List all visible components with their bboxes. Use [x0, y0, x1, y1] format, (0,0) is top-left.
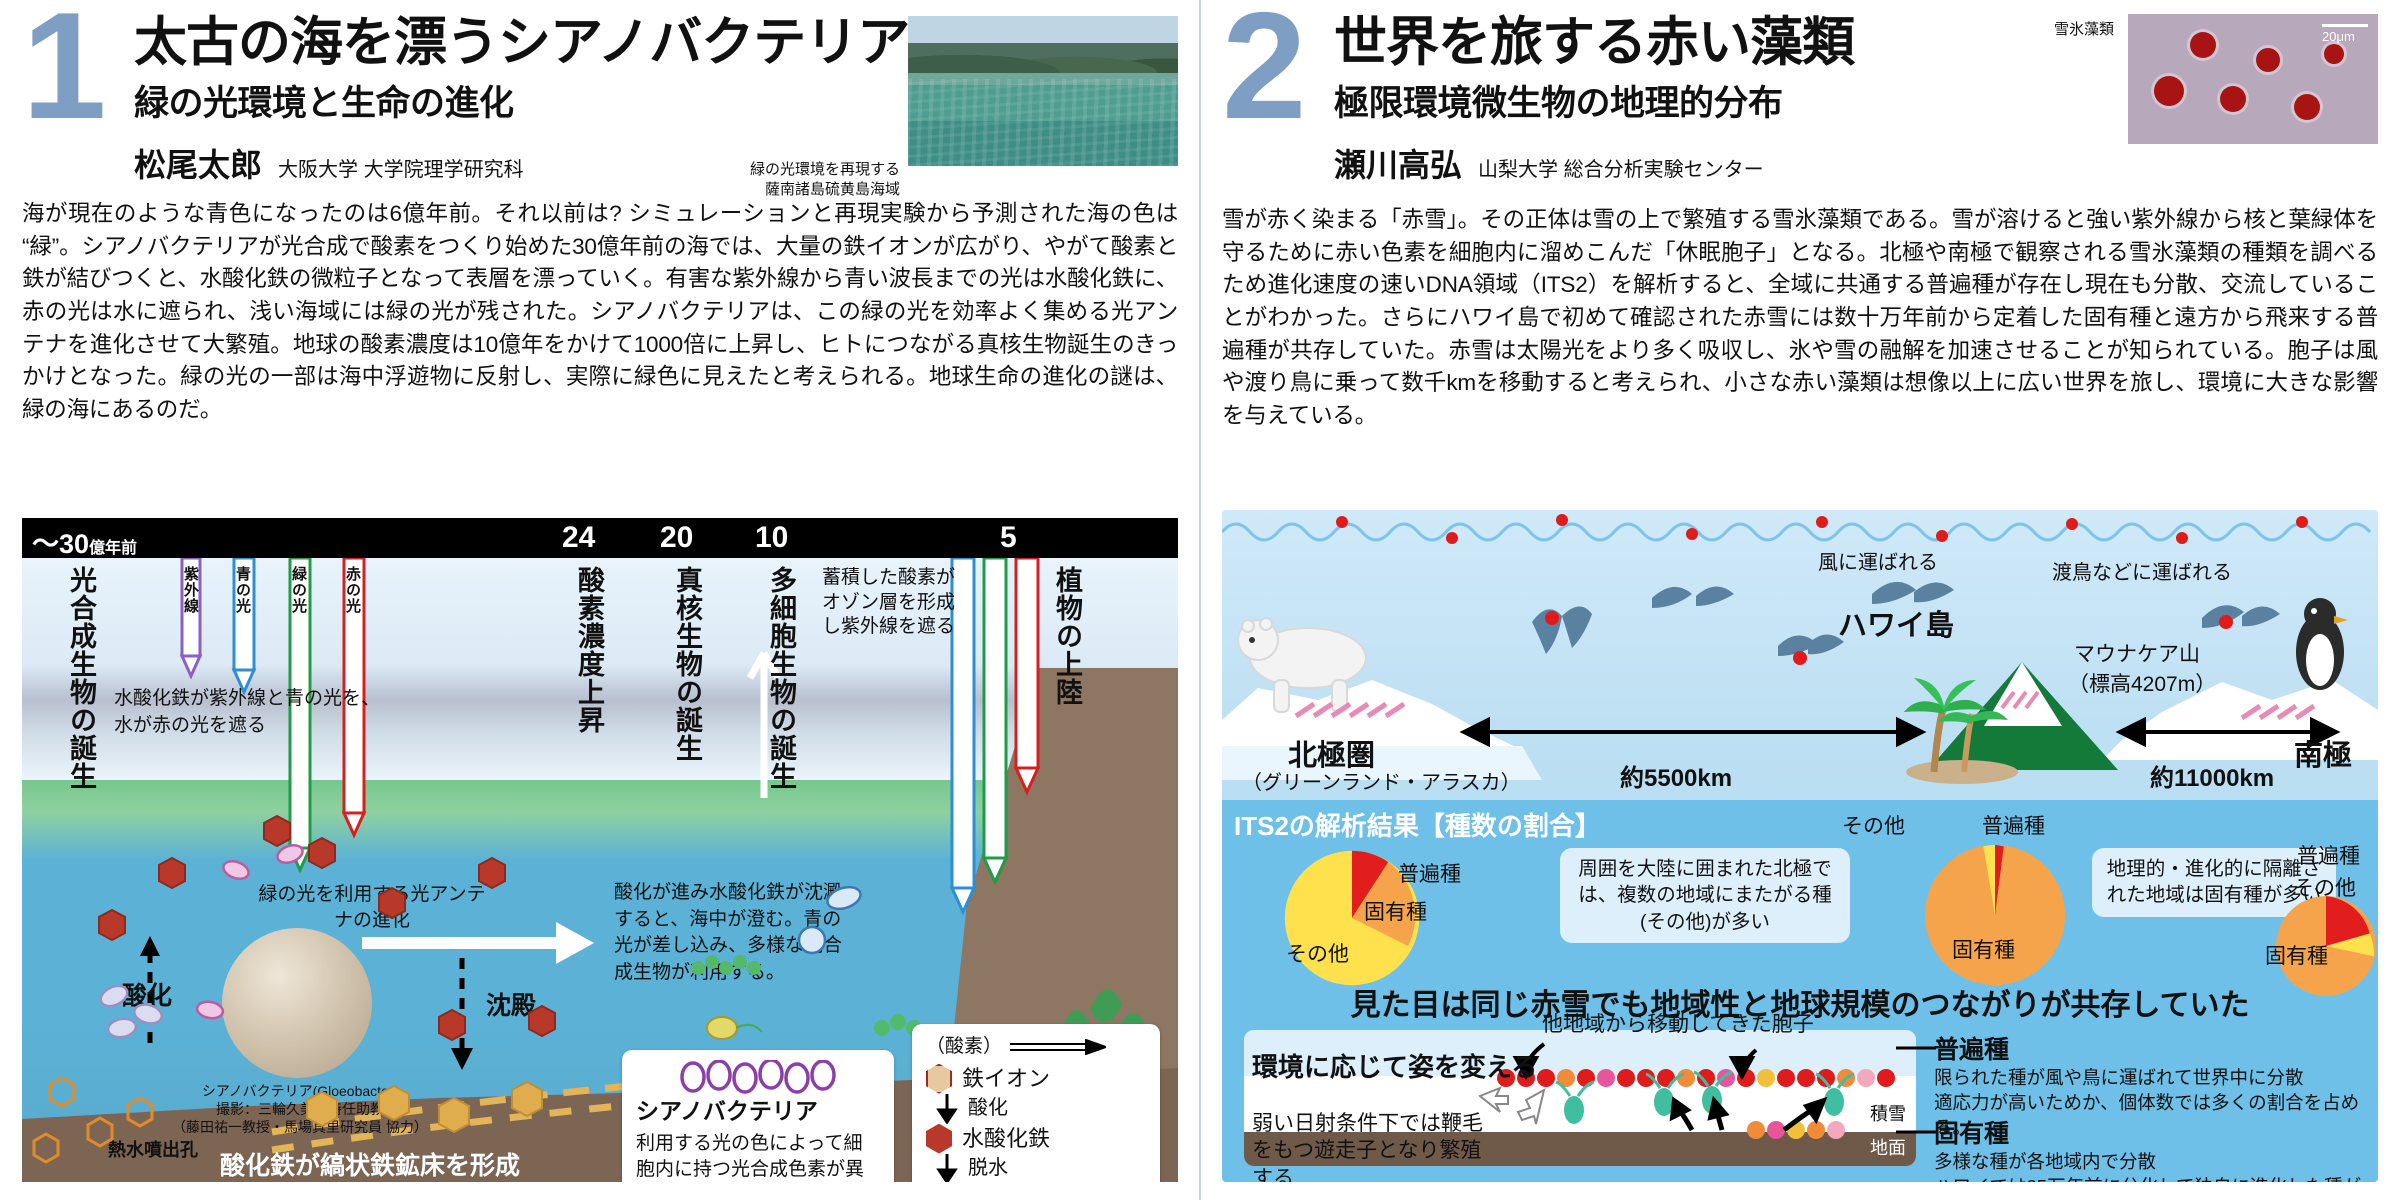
- algae-cell-4: [2220, 86, 2246, 112]
- label-migrated-spore: 他地域から移動してきた胞子: [1542, 1008, 1814, 1038]
- amoeba-organisms: [799, 883, 863, 953]
- legend-arrow-label-dehydration: 脱水: [968, 1155, 1008, 1182]
- panel2-byline: 瀬川高弘 山梨大学 総合分析実験センター: [1334, 140, 2378, 186]
- sea-photo: [908, 16, 1178, 166]
- panel1-author-name: 松尾太郎: [134, 140, 262, 186]
- polar-bear-eye: [1249, 637, 1255, 643]
- morph-arrows: [1480, 1088, 1544, 1124]
- pie-chart-hawaii: [1922, 842, 2068, 988]
- sea-photo-caption: 緑の光環境を再現する 薩南諸島硫黄島海域: [650, 160, 900, 201]
- panel-cyanobacteria: 1 太古の海を漂うシアノバクテリア 緑の光環境と生命の進化 松尾太郎 大阪大学 …: [0, 0, 1200, 1200]
- legend-cyanobacteria: シアノバクテリア 利用する光の色によって細胞内に持つ光合成色素が異なるため、体色…: [622, 1050, 894, 1182]
- pie-label-hawaii-endemic: 固有種: [1952, 934, 2015, 964]
- figure-red-snow: 風に運ばれる 渡鳥などに運ばれる ハワイ島 マウナケア山 （標高4207m） 北…: [1222, 510, 2378, 1182]
- legend-universal-title: 普遍種: [1934, 1030, 2364, 1066]
- double-arrow-icon: [1010, 1039, 1106, 1055]
- cyanobacteria-icon: [673, 1060, 843, 1094]
- bubble-arctic-explanation: 周囲を大陸に囲まれた北極では、複数の地域にまたがる種(その他)が多い: [1560, 848, 1850, 943]
- panel2-author-affiliation: 山梨大学 総合分析実験センター: [1478, 153, 1764, 182]
- label-bird-transport: 渡鳥などに運ばれる: [2052, 556, 2232, 585]
- legend-cyanobacteria-body: 利用する光の色によって細胞内に持つ光合成色素が異なるため、体色も変化する。: [636, 1131, 880, 1182]
- hexagon-icon-iron-ion: [926, 1064, 952, 1094]
- algae-cell-3: [2154, 76, 2184, 106]
- sea-photo-caption-line2: 薩南諸島硫黄島海域: [650, 180, 900, 200]
- micrograph-photo: 20μm: [2128, 14, 2378, 144]
- pie-label-hawaii-universal: 普遍種: [1982, 810, 2045, 840]
- timeline-mark-5: 5: [1000, 521, 1017, 555]
- timeline-start-label: 〜30億年前: [32, 522, 137, 561]
- label-antarctic: 南極: [2294, 732, 2352, 774]
- label-distance-right: 約11000km: [2150, 758, 2274, 793]
- down-arrow-icon-1: [936, 1094, 958, 1124]
- timeline-mark-20: 20: [660, 521, 693, 555]
- pie-label-arctic-other: その他: [1286, 938, 1349, 968]
- algae-cell-1: [2190, 32, 2216, 58]
- pie-label-antarctic-other: その他: [2293, 872, 2356, 902]
- algae-cell-2: [2256, 48, 2280, 72]
- down-arrow-icon-2: [936, 1154, 958, 1182]
- legend-cyanobacteria-title: シアノバクテリア: [636, 1096, 880, 1127]
- panel2-header: 2 世界を旅する赤い藻類 極限環境微生物の地理的分布 瀬川高弘 山梨大学 総合分…: [1200, 0, 2400, 186]
- panel1-body-text: 海が現在のような青色になったのは6億年前。それ以前は? シミュレーションと再現実…: [0, 192, 1200, 426]
- label-hawaii: ハワイ島: [1838, 602, 1954, 644]
- scale-bar: 20μm: [2322, 24, 2368, 44]
- timeline-mark-24: 24: [562, 521, 595, 555]
- penguin-icon: [2296, 598, 2348, 690]
- legend-label-iron-ion: 鉄イオン: [962, 1064, 1050, 1094]
- legend-oxygen-label: （酸素）: [926, 1034, 1002, 1060]
- algae-cell-6: [2324, 44, 2344, 64]
- distance-arrow-left: [1464, 720, 1922, 744]
- timeline-mark-10: 10: [755, 521, 788, 555]
- env-change-body: 弱い日射条件下では鞭毛をもつ遊走子となり繁殖する: [1252, 1110, 1484, 1182]
- legend-arrow-label-oxidation: 酸化: [968, 1095, 1008, 1122]
- flagellate-organisms: [707, 1017, 762, 1039]
- legend-item-iron-ion: 鉄イオン: [926, 1064, 1146, 1094]
- legend-endemic-title: 固有種: [1934, 1114, 2364, 1150]
- pie-label-arctic-universal: 普遍種: [1398, 858, 1461, 888]
- panel2-body-text: 雪が赤く染まる「赤雪」。その正体は雪の上で繁殖する雪氷藻類である。雪が溶けると強…: [1200, 186, 2400, 432]
- sea-photo-caption-line1: 緑の光環境を再現する: [650, 160, 900, 180]
- pie-label-antarctic-universal: 普遍種: [2297, 840, 2360, 870]
- label-maunakea: マウナケア山: [2074, 638, 2200, 668]
- panel1-author-affiliation: 大阪大学 大学院理学研究科: [278, 153, 524, 182]
- hexagon-icon-iron-hydroxide: [926, 1124, 952, 1154]
- its2-section-title: ITS2の解析結果【種数の割合】: [1234, 806, 1601, 843]
- panel2-number: 2: [1222, 4, 1307, 129]
- infographic-page: 1 太古の海を漂うシアノバクテリア 緑の光環境と生命の進化 松尾太郎 大阪大学 …: [0, 0, 2400, 1200]
- pie-label-hawaii-other: その他: [1842, 810, 1905, 840]
- pie-label-arctic-endemic: 固有種: [1364, 896, 1427, 926]
- legend-label-iron-hydroxide: 水酸化鉄: [962, 1124, 1050, 1154]
- panel2-author-name: 瀬川高弘: [1334, 140, 1462, 186]
- scale-bar-label: 20μm: [2322, 29, 2355, 44]
- legend-arrow-dehydration: 脱水: [936, 1154, 1146, 1182]
- figure1-scene: 光合成生物の誕生 紫外線 青の光 緑の光 赤の光 酸素濃度上昇 真核生物の誕生 …: [22, 558, 1178, 1182]
- scale-bar-line: [2322, 24, 2368, 27]
- env-change-title: 環境に応じて姿を変える: [1252, 1052, 1537, 1083]
- label-arctic-sub: （グリーンランド・アラスカ）: [1242, 766, 1521, 795]
- legend-endemic-body2: ハワイでは25万年前に分化して独自に進化した種が見つかった。: [1934, 1175, 2364, 1182]
- label-distance-left: 約5500km: [1620, 758, 1732, 793]
- label-wind-transport: 風に運ばれる: [1818, 546, 1938, 575]
- legend-connector-lines: [1896, 1024, 1940, 1182]
- legend-universal-body1: 限られた種が風や鳥に運ばれて世界中に分散: [1934, 1066, 2364, 1091]
- pie-label-antarctic-endemic: 固有種: [2265, 940, 2328, 970]
- legend-endemic-body1: 多様な種が各地域内で分散: [1934, 1150, 2364, 1175]
- panel1-number: 1: [22, 4, 107, 129]
- panel1-header: 1 太古の海を漂うシアノバクテリア 緑の光環境と生命の進化 松尾太郎 大阪大学 …: [0, 0, 1200, 186]
- algae-cell-5: [2294, 94, 2320, 120]
- figure-ancient-ocean: 〜30億年前 24 20 10 5: [22, 518, 1178, 1182]
- legend-iron-chain: （酸素） 鉄イオン 酸化 水酸化鉄: [912, 1024, 1160, 1182]
- timeline-bar: 〜30億年前 24 20 10 5: [22, 518, 1178, 558]
- legend-item-iron-hydroxide: 水酸化鉄: [926, 1124, 1146, 1154]
- legend-endemic-species: 固有種 多様な種が各地域内で分散 ハワイでは25万年前に分化して独自に進化した種…: [1934, 1114, 2364, 1182]
- legend-arrow-oxidation: 酸化: [936, 1094, 1146, 1124]
- panel-red-algae: 2 世界を旅する赤い藻類 極限環境微生物の地理的分布 瀬川高弘 山梨大学 総合分…: [1200, 0, 2400, 1200]
- micrograph-caption-label: 雪氷藻類: [2054, 18, 2114, 39]
- legend-oxygen-row: （酸素）: [926, 1034, 1146, 1060]
- label-maunakea-elevation: （標高4207m）: [2068, 668, 2216, 698]
